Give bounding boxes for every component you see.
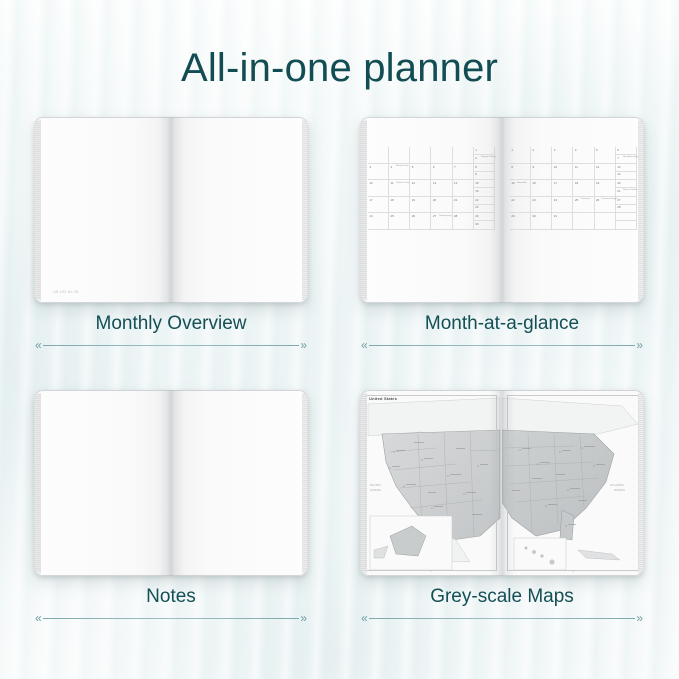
month-grid-cell[interactable]: 4Election Day	[389, 164, 410, 181]
month-grid-left: MondayTuesdayWednesdayThursdayFridaySat …	[367, 138, 495, 230]
month-grid-weekend-cell[interactable]: 12Daylight Saving	[474, 147, 495, 164]
month-grid-row: 22232425Christmas26Kwanzaa begins2728	[510, 197, 637, 214]
page-right-map: ATLANTIC OCEAN GULF OF MEXICO	[502, 390, 644, 576]
month-grid-event: Daylight Saving	[481, 156, 496, 158]
month-grid-cell[interactable]: 4	[573, 147, 594, 164]
month-grid-cell[interactable]	[595, 213, 616, 230]
feature-notes: NOTES NOTES Notes « »	[34, 390, 308, 576]
month-grid-weekend-half[interactable]: 1	[474, 147, 494, 155]
month-grid-row: 1234567Hanukkah begins	[510, 147, 637, 164]
page-edge-stack	[34, 393, 41, 573]
arrow-bar	[43, 618, 300, 619]
map-right-half: ATLANTIC OCEAN GULF OF MEXICO	[502, 390, 644, 576]
month-grid-cell[interactable]: 21	[453, 197, 474, 214]
page-right-year-calendar: CALENDAR 2025 JANUARYSMTWTFS123456789101…	[171, 117, 308, 303]
arrow-bar	[369, 618, 636, 619]
page-code: LW-192-HL-25	[53, 290, 78, 294]
month-grid-cell[interactable]: 25	[389, 213, 410, 230]
arrow-right-icon: »	[299, 612, 308, 624]
month-grid-cell[interactable]: 19	[595, 180, 616, 197]
month-grid-weekend-half[interactable]: 14	[616, 172, 636, 180]
month-grid-cell[interactable]	[431, 147, 452, 164]
month-grid-cell[interactable]: 11	[573, 164, 594, 181]
arrow-left-icon: «	[34, 612, 43, 624]
arrow-right-icon: »	[635, 612, 644, 624]
month-grid-cell[interactable]: 26	[410, 213, 431, 230]
month-grid-weekend-half[interactable]: 23	[474, 205, 494, 213]
month-grid-weekend-half[interactable]: 16	[474, 188, 494, 196]
arrow-right-icon: »	[299, 339, 308, 351]
month-grid-cell[interactable]: 18	[573, 180, 594, 197]
month-grid-right: MondayTuesdayWednesdayThursdayFridaySat …	[509, 138, 637, 230]
page-edge-stack-right	[302, 120, 308, 300]
month-grid-cell[interactable]: 29	[510, 213, 531, 230]
map-page-number-left: 1	[360, 569, 502, 573]
month-grid-cell[interactable]: 1	[510, 147, 531, 164]
page-edge-stack-right	[638, 393, 644, 573]
month-grid-weekend-cell[interactable]: 1516	[474, 180, 495, 197]
page-edge-stack-right	[638, 120, 644, 300]
month-grid-weekend-half[interactable]: 9	[474, 172, 494, 180]
planner-spread-month-grid: NOVEMBER 2025 MondayTuesdayWednesdayThur…	[360, 117, 644, 303]
planner-spread-notes: NOTES NOTES	[34, 390, 308, 576]
svg-text:ATLANTIC: ATLANTIC	[610, 483, 625, 487]
month-grid-cell[interactable]: 7	[453, 164, 474, 181]
month-grid-cell[interactable]: 24	[368, 213, 389, 230]
caption-notes: Notes	[34, 586, 308, 608]
month-grid-row: 34Election Day56789	[368, 164, 495, 181]
arrow-left-icon: «	[360, 612, 369, 624]
month-grid-cell[interactable]: 2	[531, 147, 552, 164]
month-grid-row: 1011Veterans Day1213141516	[368, 180, 495, 197]
month-grid-row: 15Hanukkah161718192021Winter Solstice	[510, 180, 637, 197]
month-grid-cell[interactable]: 14	[453, 180, 474, 197]
caption-month-at-a-glance: Month-at-a-glance	[360, 313, 644, 335]
month-grid-row: 891011121314	[510, 164, 637, 181]
month-grid-cell[interactable]	[453, 147, 474, 164]
month-grid-cell[interactable]: 28	[453, 213, 474, 230]
month-grid-cell[interactable]: 10	[368, 180, 389, 197]
month-grid-weekend-cell[interactable]	[616, 213, 637, 230]
month-grid-weekend-cell[interactable]: 89	[474, 164, 495, 181]
map-page-number-right: 2	[502, 569, 644, 573]
month-grid-weekend-half[interactable]: 20	[616, 180, 636, 188]
month-grid-weekend-cell[interactable]: 1314	[616, 164, 637, 181]
month-grid-cell[interactable]: 3	[368, 164, 389, 181]
month-grid-weekend-half[interactable]: 6	[616, 147, 636, 155]
month-grid-cell[interactable]: 8	[510, 164, 531, 181]
page-left-blank: LW-192-HL-25	[34, 117, 171, 303]
month-grid-cell[interactable]: 19	[410, 197, 431, 214]
month-grid-weekend-half[interactable]	[616, 213, 636, 221]
month-grid-cell[interactable]: 31	[552, 213, 573, 230]
month-grid-weekend-cell[interactable]: 2728	[616, 197, 637, 214]
page-left-map: United States	[360, 390, 502, 576]
month-grid-weekend-half[interactable]: 2Daylight Saving	[474, 155, 494, 163]
month-grid-cell[interactable]: 15Hanukkah	[510, 180, 531, 197]
month-grid-cell[interactable]: 18	[389, 197, 410, 214]
planner-spread-year-calendar: LW-192-HL-25 CALENDAR 2025 JANUARYSMTWTF…	[34, 117, 308, 303]
map-graphic-west: PACIFIC OCEAN	[360, 390, 502, 576]
page-edge-stack-right	[302, 393, 308, 573]
page-title: All-in-one planner	[0, 46, 679, 91]
feature-monthly-overview: LW-192-HL-25 CALENDAR 2025 JANUARYSMTWTF…	[34, 117, 308, 303]
month-grid-weekend-half[interactable]: 15	[474, 180, 494, 188]
arrow-left-icon: «	[34, 339, 43, 351]
month-grid-cell[interactable]: 30	[531, 213, 552, 230]
month-grid-cell[interactable]: 24	[552, 197, 573, 214]
month-grid-cell[interactable]	[573, 213, 594, 230]
arrow-rule-notes: « »	[34, 612, 308, 624]
month-grid-row: 293031	[510, 213, 637, 230]
month-grid-weekend-half[interactable]: 29	[474, 213, 494, 221]
month-grid-cell[interactable]: 11Veterans Day	[389, 180, 410, 197]
month-grid-event: Veterans Day	[396, 182, 409, 184]
month-grid-weekend-half[interactable]: 21Winter Solstice	[616, 188, 636, 196]
page-left-november: NOVEMBER 2025 MondayTuesdayWednesdayThur…	[360, 117, 502, 303]
page-edge-stack	[34, 120, 41, 300]
month-grid-event: Winter Solstice	[623, 189, 638, 191]
svg-text:OCEAN: OCEAN	[370, 488, 381, 492]
map-left-half: United States	[360, 390, 502, 576]
month-grid-cell[interactable]: 10	[552, 164, 573, 181]
month-grid-cell[interactable]: 17	[552, 180, 573, 197]
month-grid-cell[interactable]: 3	[552, 147, 573, 164]
month-grid-weekend-half[interactable]	[616, 221, 636, 229]
month-grid-weekend-cell[interactable]: 2021Winter Solstice	[616, 180, 637, 197]
month-grid-cell[interactable]: 27Thanksgiving	[431, 213, 452, 230]
month-grid-cell[interactable]	[368, 147, 389, 164]
map-graphic-east: ATLANTIC OCEAN GULF OF MEXICO	[502, 390, 644, 576]
month-grid-row: 24252627Thanksgiving282930	[368, 213, 495, 230]
month-grid-cell[interactable]: 12	[595, 164, 616, 181]
map-title: United States	[368, 396, 398, 401]
month-grid-weekend-half[interactable]: 8	[474, 164, 494, 172]
month-grid-cell[interactable]: 25Christmas	[573, 197, 594, 214]
arrow-left-icon: «	[360, 339, 369, 351]
month-grid-cell[interactable]: 23	[531, 197, 552, 214]
arrow-rule-greyscale-maps: « »	[360, 612, 644, 624]
caption-monthly-overview: Monthly Overview	[34, 313, 308, 335]
arrow-rule-monthly-overview: « »	[34, 339, 308, 351]
month-grid-cell[interactable]: 20	[431, 197, 452, 214]
month-grid-weekend-cell[interactable]: 2223	[474, 197, 495, 214]
arrow-right-icon: »	[635, 339, 644, 351]
month-grid-event: Thanksgiving	[438, 215, 451, 217]
page-edge-stack	[360, 393, 367, 573]
month-grid-row: 12Daylight Saving	[368, 147, 495, 164]
month-grid-weekend-half[interactable]: 7Hanukkah begins	[616, 155, 636, 163]
month-grid-cell[interactable]	[410, 147, 431, 164]
month-grid-cell[interactable]: 9	[531, 164, 552, 181]
month-grid-row: 17181920212223	[368, 197, 495, 214]
month-grid-weekend-half[interactable]: 27	[616, 197, 636, 205]
month-grid-cell[interactable]: 26Kwanzaa begins	[595, 197, 616, 214]
month-grid-event: Hanukkah	[517, 182, 527, 184]
arrow-rule-month-at-a-glance: « »	[360, 339, 644, 351]
month-grid-cell[interactable]: 5	[595, 147, 616, 164]
page-left-notes: NOTES	[34, 390, 171, 576]
month-grid-cell[interactable]: 13	[431, 180, 452, 197]
caption-greyscale-maps: Grey-scale Maps	[360, 586, 644, 608]
month-grid-weekend-half[interactable]: 13	[616, 164, 636, 172]
month-grid-weekend-cell[interactable]: 2930	[474, 213, 495, 230]
arrow-bar	[43, 345, 300, 346]
month-grid-cell[interactable]: 12	[410, 180, 431, 197]
feature-month-at-a-glance: NOVEMBER 2025 MondayTuesdayWednesdayThur…	[360, 117, 644, 303]
page-edge-stack	[360, 120, 367, 300]
svg-text:PACIFIC: PACIFIC	[370, 483, 381, 487]
page-right-notes: NOTES	[171, 390, 308, 576]
month-grid-weekend-half[interactable]: 30	[474, 221, 494, 229]
month-grid-cell[interactable]: 6	[431, 164, 452, 181]
feature-greyscale-maps: United States	[360, 390, 644, 576]
month-grid-cell[interactable]	[389, 147, 410, 164]
month-grid-weekend-half[interactable]: 22	[474, 197, 494, 205]
planner-spread-map: United States	[360, 390, 644, 576]
month-grid-weekend-half[interactable]: 28	[616, 205, 636, 213]
page-right-december: DECEMBER 2025 MondayTuesdayWednesdayThur…	[502, 117, 644, 303]
month-grid-cell[interactable]: 16	[531, 180, 552, 197]
svg-text:OCEAN: OCEAN	[614, 488, 625, 492]
month-grid-cell[interactable]: 22	[510, 197, 531, 214]
month-grid-cell[interactable]: 17	[368, 197, 389, 214]
month-grid-weekend-cell[interactable]: 67Hanukkah begins	[616, 147, 637, 164]
month-grid-event: Christmas	[580, 198, 590, 200]
arrow-bar	[369, 345, 636, 346]
month-grid-cell[interactable]: 5	[410, 164, 431, 181]
month-grid-event: Election Day	[396, 165, 408, 167]
